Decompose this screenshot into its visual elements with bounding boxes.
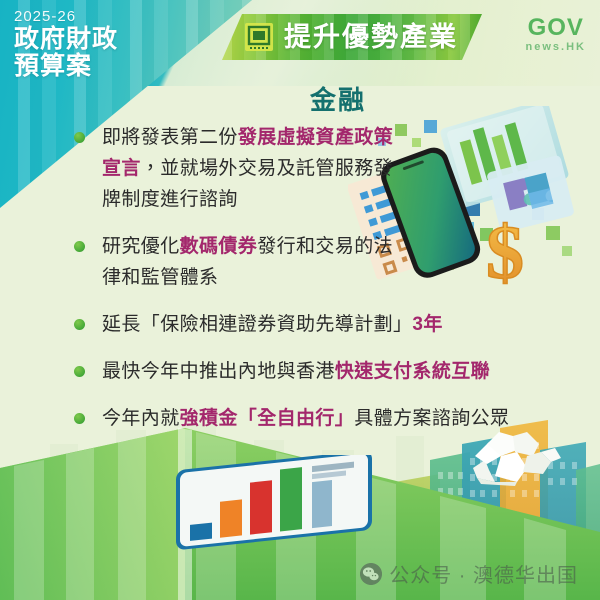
bullet-text-3: 延長「保險相連證券資助先導計劃」3年: [102, 309, 572, 340]
budget-title-line-1: 政府財政: [14, 26, 118, 53]
bullet-list: 即將發表第二份發展虛擬資產政策宣言，並就場外交易及託管服務發牌制度進行諮詢 研究…: [72, 122, 572, 450]
bar-1: [190, 523, 212, 541]
list-item: 今年內就強積金「全自由行」具體方案諮詢公眾: [72, 403, 572, 434]
bullet-dot-icon: [74, 132, 85, 143]
bar-2: [220, 499, 242, 537]
bar-4: [280, 467, 302, 531]
bullet-dot-icon: [74, 319, 85, 330]
govnews-logo-secondary: news.HK: [526, 42, 586, 53]
bar-3: [250, 480, 272, 534]
watermark: 公众号 · 澳德华出国: [360, 559, 578, 588]
bullet-1-part-1: 發展虛擬資產: [238, 127, 354, 148]
bullet-5-part-1: 強積金「全自由行」: [180, 408, 355, 429]
banner-title: 提升優勢產業: [284, 18, 458, 56]
bullet-1-part-3: ，並就場外交易及託管服務發牌制度進行諮詢: [102, 158, 393, 210]
list-item: 延長「保險相連證券資助先導計劃」3年: [72, 309, 572, 340]
bullet-1-part-0: 即將發表第二份: [102, 127, 238, 148]
bullet-dot-icon: [74, 366, 85, 377]
watermark-text: 公众号 · 澳德华出国: [389, 559, 578, 588]
infographic-poster: 2025-26 政府財政 預算案 提升優勢產業 GOV news.HK 金融: [0, 0, 600, 600]
budget-title-block: 2025-26 政府財政 預算案: [14, 8, 118, 80]
govnews-logo[interactable]: GOV news.HK: [526, 16, 586, 53]
bullet-text-2: 研究優化數碼債券發行和交易的法律和監管體系: [102, 231, 402, 293]
bullet-3-part-0: 延長「保險相連證券資助先導計劃」: [102, 314, 412, 335]
bullet-3-part-1: 3年: [412, 314, 442, 335]
wechat-icon: [360, 563, 382, 585]
bullet-2-part-1: 數碼債券: [180, 236, 258, 257]
bar-5: [312, 480, 332, 528]
bullet-dot-icon: [74, 413, 85, 424]
list-item: 即將發表第二份發展虛擬資產政策宣言，並就場外交易及託管服務發牌制度進行諮詢: [72, 122, 572, 215]
list-item: 最快今年中推出內地與香港快速支付系統互聯: [72, 356, 572, 387]
bar-chart-panel: [170, 455, 380, 560]
bullet-dot-icon: [74, 241, 85, 252]
bullet-5-part-2: 具體方案諮詢公眾: [354, 408, 509, 429]
bullet-4-part-1: 快速支付系統互聯: [335, 361, 490, 382]
budget-title-line-2: 預算案: [14, 53, 118, 80]
bullet-text-4: 最快今年中推出內地與香港快速支付系統互聯: [102, 356, 572, 387]
chip-square-icon: [244, 22, 274, 52]
section-subtitle: 金融: [310, 80, 366, 117]
bullet-5-part-0: 今年內就: [102, 408, 180, 429]
bullet-2-part-0: 研究優化: [102, 236, 180, 257]
budget-year: 2025-26: [14, 8, 118, 25]
bullet-text-1: 即將發表第二份發展虛擬資產政策宣言，並就場外交易及託管服務發牌制度進行諮詢: [102, 122, 402, 215]
list-item: 研究優化數碼債券發行和交易的法律和監管體系: [72, 231, 572, 293]
bullet-text-5: 今年內就強積金「全自由行」具體方案諮詢公眾: [102, 403, 572, 434]
bullet-4-part-0: 最快今年中推出內地與香港: [102, 361, 335, 382]
govnews-logo-primary: GOV: [526, 16, 586, 40]
